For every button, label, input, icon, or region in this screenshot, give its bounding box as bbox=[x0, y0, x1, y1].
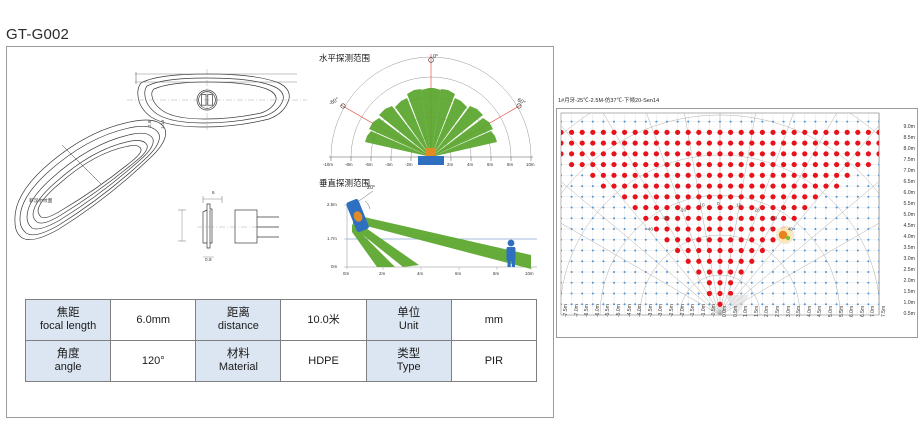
vertical-chart-title: 垂直探测范围 bbox=[319, 177, 370, 189]
detection-coverage-panel: -40-30-20-10010203040 9.0m 8.5m 8.0m 7.5… bbox=[556, 108, 918, 338]
vertical-ytick-1_7m: 1.7m bbox=[327, 236, 337, 241]
vertical-xtick-3: 6m bbox=[455, 271, 461, 276]
xtick-6_5m: 6.5m bbox=[860, 306, 866, 317]
table-row: 焦距 focal length 6.0mm 距离 distance 10.0米 bbox=[26, 300, 537, 341]
svg-text:30: 30 bbox=[772, 216, 778, 221]
vertical-ytick-2_5m: 2.5m bbox=[327, 202, 337, 207]
cell-cn: 距离 bbox=[198, 307, 278, 321]
polar-angle-label-0: 0° bbox=[433, 54, 438, 60]
fresnel-surface-annotation: 菲涅尔纹面 bbox=[29, 198, 52, 204]
vertical-tilt-angle-label: 20° bbox=[367, 185, 375, 191]
svg-text:-10: -10 bbox=[698, 203, 705, 208]
xtick-_2_0m: -2.0m bbox=[680, 304, 686, 317]
cell-cn: 单位 bbox=[369, 307, 449, 321]
vertical-xtick-0: 0m bbox=[343, 271, 349, 276]
cell-distance-value: 10.0米 bbox=[281, 300, 366, 341]
ytick-0_5m: 0.5m bbox=[903, 311, 915, 317]
cell-en: angle bbox=[28, 361, 108, 374]
ytick-7_5m: 7.5m bbox=[903, 157, 915, 163]
cell-en: 120° bbox=[113, 355, 193, 368]
ytick-4_5m: 4.5m bbox=[903, 223, 915, 229]
svg-text:0: 0 bbox=[717, 201, 720, 206]
cell-en: Material bbox=[198, 361, 278, 374]
xtick-_4_5m: -4.5m bbox=[627, 304, 633, 317]
cad-drawing-svg bbox=[7, 47, 307, 287]
xtick-5_5m: 5.5m bbox=[839, 306, 845, 317]
xtick-0_5m: 0.5m bbox=[733, 306, 739, 317]
polar-xtick-4: -2m bbox=[405, 162, 413, 167]
xtick-_5_0m: -5.0m bbox=[616, 304, 622, 317]
polar-xtick-3: -4m bbox=[385, 162, 393, 167]
page-title: GT-G002 bbox=[6, 26, 69, 43]
xtick-0_0m: 0.0m bbox=[722, 306, 728, 317]
ytick-2_0m: 2.0m bbox=[903, 278, 915, 284]
xtick-_0_5m: -0.5m bbox=[711, 304, 717, 317]
cell-en: focal length bbox=[28, 320, 108, 333]
polar-xtick-2: -6m bbox=[365, 162, 373, 167]
product-drawing-panel: 菲涅尔纹面 1.15 2.8 6 0.8 水平探测范围 bbox=[6, 46, 554, 418]
polar-xtick-7: 4m bbox=[467, 162, 473, 167]
horizontal-detection-svg bbox=[307, 49, 555, 175]
svg-text:40: 40 bbox=[788, 227, 794, 232]
xtick-7_0m: 7.0m bbox=[870, 306, 876, 317]
thickness-dimension-label: 1.15 bbox=[160, 120, 165, 129]
ytick-5_5m: 5.5m bbox=[903, 201, 915, 207]
cell-cn: 焦距 bbox=[28, 307, 108, 321]
svg-text:-40: -40 bbox=[646, 227, 653, 232]
svg-text:20: 20 bbox=[755, 208, 761, 213]
svg-text:-20: -20 bbox=[679, 208, 686, 213]
cell-en: HDPE bbox=[283, 355, 363, 368]
ytick-3_0m: 3.0m bbox=[903, 256, 915, 262]
xtick-_5_5m: -5.5m bbox=[605, 304, 611, 317]
lens-side-view bbox=[178, 196, 279, 257]
cell-material-value: HDPE bbox=[281, 341, 366, 382]
ytick-1_5m: 1.5m bbox=[903, 289, 915, 295]
vertical-xtick-1: 2m bbox=[379, 271, 385, 276]
cell-en: Type bbox=[369, 361, 449, 374]
polar-xtick-10: 10m bbox=[526, 162, 535, 167]
cell-en: mm bbox=[454, 314, 534, 327]
vertical-xtick-4: 8m bbox=[493, 271, 499, 276]
cell-en: distance bbox=[198, 320, 278, 333]
table-row: 角度 angle 120° 材料 Material HDPE 类型 bbox=[26, 341, 537, 382]
ytick-8_0m: 8.0m bbox=[903, 146, 915, 152]
ytick-3_5m: 3.5m bbox=[903, 245, 915, 251]
cell-cn: 材料 bbox=[198, 348, 278, 362]
xtick-_1_5m: -1.5m bbox=[690, 304, 696, 317]
cell-cn: 类型 bbox=[369, 348, 449, 362]
svg-text:10: 10 bbox=[736, 203, 742, 208]
xtick-4_0m: 4.0m bbox=[807, 306, 813, 317]
polar-xtick-6: 2m bbox=[447, 162, 453, 167]
ytick-2_5m: 2.5m bbox=[903, 267, 915, 273]
xtick-_4_0m: -4.0m bbox=[637, 304, 643, 317]
xtick-1_5m: 1.5m bbox=[754, 306, 760, 317]
cell-en: Unit bbox=[369, 320, 449, 333]
cell-focal-length-value: 6.0mm bbox=[111, 300, 196, 341]
cell-en: PIR bbox=[454, 355, 534, 368]
cell-unit-header: 单位 Unit bbox=[366, 300, 451, 341]
ytick-5_0m: 5.0m bbox=[903, 212, 915, 218]
cell-cn: 角度 bbox=[28, 348, 108, 362]
cell-type-value: PIR bbox=[451, 341, 536, 382]
small-dimension-label: 0.8 bbox=[205, 257, 212, 262]
top-dimension-label: 2.8 bbox=[147, 120, 152, 127]
vertical-xtick-2: 4m bbox=[417, 271, 423, 276]
xtick-6_0m: 6.0m bbox=[849, 306, 855, 317]
xtick-1_0m: 1.0m bbox=[743, 306, 749, 317]
horizontal-chart-title: 水平探测范围 bbox=[319, 52, 370, 64]
polar-xtick-0: -10m bbox=[323, 162, 333, 167]
xtick-5_0m: 5.0m bbox=[828, 306, 834, 317]
xtick-2_5m: 2.5m bbox=[775, 306, 781, 317]
cell-focal-length-header: 焦距 focal length bbox=[26, 300, 111, 341]
xtick-_6_5m: -6.5m bbox=[584, 304, 590, 317]
xtick-_7_5m: -7.5m bbox=[563, 304, 569, 317]
ytick-7_0m: 7.0m bbox=[903, 168, 915, 174]
cell-unit-value: mm bbox=[451, 300, 536, 341]
vertical-ytick-0m: 0m bbox=[331, 264, 337, 269]
cell-en: 6.0mm bbox=[113, 314, 193, 327]
ytick-6_5m: 6.5m bbox=[903, 179, 915, 185]
screenshot-root: GT-G002 bbox=[0, 0, 924, 427]
cell-angle-value: 120° bbox=[111, 341, 196, 382]
xtick-3_0m: 3.0m bbox=[786, 306, 792, 317]
cell-angle-header: 角度 angle bbox=[26, 341, 111, 382]
xtick-_6_0m: -6.0m bbox=[595, 304, 601, 317]
ytick-1_0m: 1.0m bbox=[903, 300, 915, 306]
xtick-_7_0m: -7.0m bbox=[574, 304, 580, 317]
svg-text:-30: -30 bbox=[662, 216, 669, 221]
ytick-6_0m: 6.0m bbox=[903, 190, 915, 196]
xtick-4_5m: 4.5m bbox=[817, 306, 823, 317]
polar-xtick-1: -8m bbox=[345, 162, 353, 167]
width-dimension-label: 6 bbox=[212, 190, 215, 195]
xtick-_3_0m: -3.0m bbox=[658, 304, 664, 317]
vertical-xtick-5: 10m bbox=[525, 271, 534, 276]
cell-type-header: 类型 Type bbox=[366, 341, 451, 382]
specification-table: 焦距 focal length 6.0mm 距离 distance 10.0米 bbox=[25, 299, 537, 382]
detection-coverage-svg: -40-30-20-10010203040 bbox=[557, 109, 917, 337]
xtick-_3_5m: -3.5m bbox=[648, 304, 654, 317]
lens-iso-view bbox=[15, 120, 166, 240]
coverage-map-title: 1#月牙-25℃-2.5M-仿37℃-下倾20-Sen14 bbox=[558, 96, 659, 104]
xtick-_2_5m: -2.5m bbox=[669, 304, 675, 317]
cell-distance-header: 距离 distance bbox=[196, 300, 281, 341]
horizontal-detection-chart: 水平探测范围 bbox=[307, 49, 555, 175]
cell-material-header: 材料 Material bbox=[196, 341, 281, 382]
ytick-8_5m: 8.5m bbox=[903, 135, 915, 141]
polar-xtick-8: 6m bbox=[487, 162, 493, 167]
cell-en: 10.0米 bbox=[283, 314, 363, 327]
ytick-4_0m: 4.0m bbox=[903, 234, 915, 240]
xtick-2_0m: 2.0m bbox=[764, 306, 770, 317]
polar-xtick-9: 8m bbox=[507, 162, 513, 167]
xtick-_1_0m: -1.0m bbox=[701, 304, 707, 317]
xtick-3_5m: 3.5m bbox=[796, 306, 802, 317]
vertical-detection-chart: 垂直探测范围 bbox=[307, 177, 555, 287]
ytick-9_0m: 9.0m bbox=[903, 124, 915, 130]
xtick-7_5m: 7.5m bbox=[881, 306, 887, 317]
